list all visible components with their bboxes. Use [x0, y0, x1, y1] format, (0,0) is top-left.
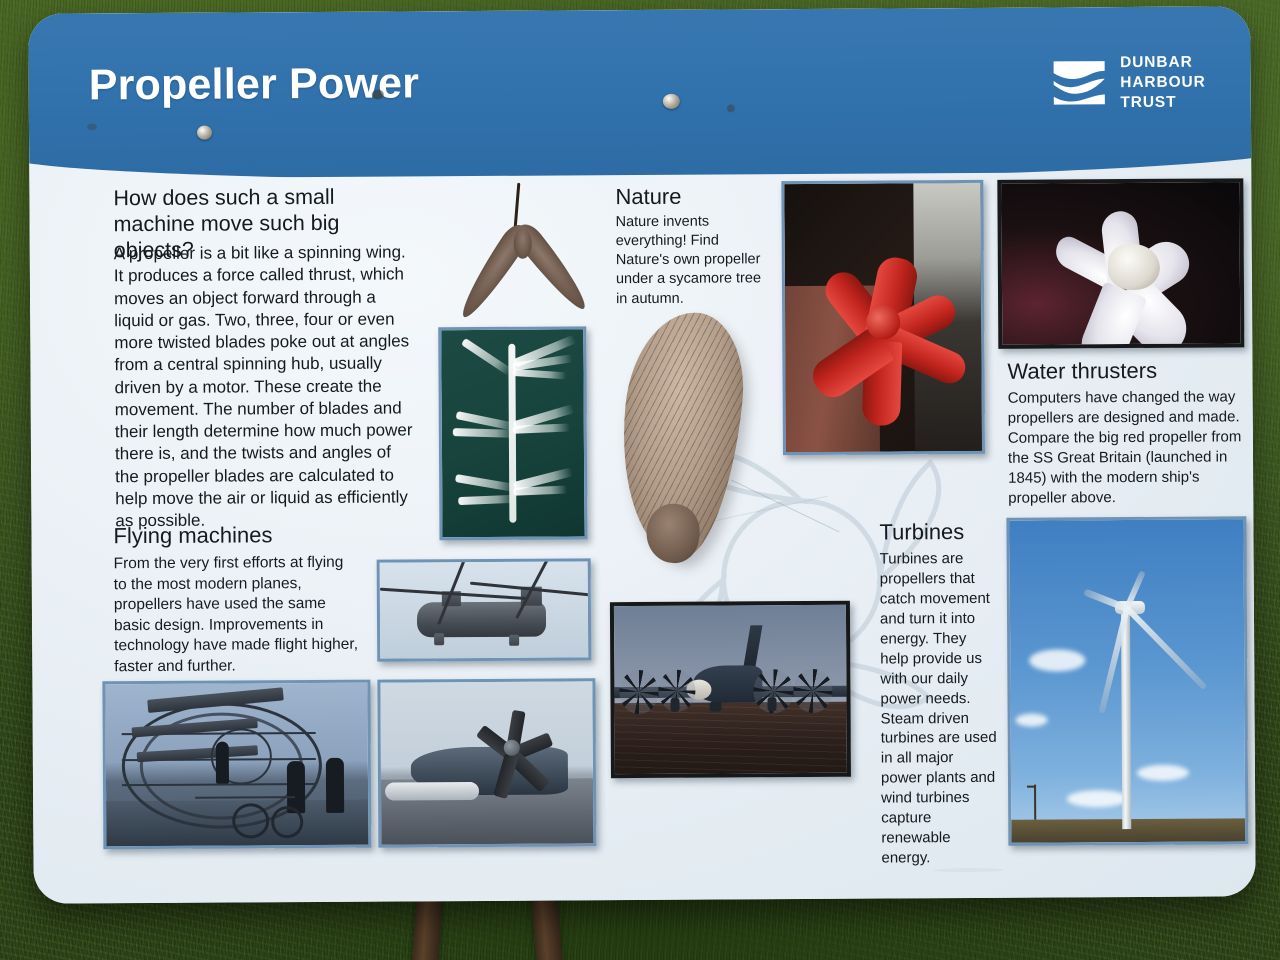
photograph-of-interpretive-sign: Propeller Power DUNBAR HARBOUR TRUST — [0, 0, 1280, 960]
logo-line-1: DUNBAR — [1120, 54, 1193, 71]
interpretive-sign-board: Propeller Power DUNBAR HARBOUR TRUST — [28, 6, 1255, 903]
wind-turbine-photo — [1006, 516, 1248, 845]
mustang-aircraft-photo — [377, 678, 596, 847]
sycamore-seed-closeup-image — [622, 311, 740, 558]
red-ship-propeller-photo — [781, 180, 985, 455]
turbines-heading: Turbines — [879, 519, 1009, 546]
dirt-mark — [87, 123, 97, 130]
sign-title: Propeller Power — [89, 59, 420, 110]
chinook-helicopter-photo — [377, 558, 592, 661]
white-ship-propeller-photo — [997, 178, 1244, 348]
logo-line-2: HARBOUR — [1120, 73, 1206, 91]
sycamore-seed-pair-image — [427, 182, 614, 328]
nature-body: Nature invents everything! Find Nature's… — [616, 212, 767, 309]
flying-machines-body: From the very first efforts at flying to… — [114, 553, 360, 678]
dirt-mark — [727, 104, 735, 112]
logo-line-3: TRUST — [1120, 93, 1176, 110]
water-thrusters-body: Computers have changed the way propeller… — [1008, 387, 1246, 508]
sign-header: Propeller Power DUNBAR HARBOUR TRUST — [28, 6, 1251, 178]
logo-wordmark: DUNBAR HARBOUR TRUST — [1120, 53, 1206, 113]
bear-bomber-photo — [610, 601, 851, 778]
fixing-screw — [663, 94, 680, 109]
dirt-mark — [372, 90, 384, 100]
fixing-screw — [197, 126, 212, 140]
dunbar-harbour-trust-logo: DUNBAR HARBOUR TRUST — [1052, 53, 1206, 113]
water-thrusters-heading: Water thrusters — [1007, 357, 1247, 385]
strobe-propeller-photo — [438, 326, 587, 540]
flying-machines-heading: Flying machines — [113, 522, 373, 550]
nature-heading: Nature — [615, 183, 785, 210]
early-flying-machine-photo — [102, 680, 371, 850]
wave-logo-icon — [1052, 57, 1107, 109]
turbines-body: Turbines are propellers that catch movem… — [880, 549, 998, 869]
intro-body: A propeller is a bit like a spinning win… — [114, 241, 416, 532]
